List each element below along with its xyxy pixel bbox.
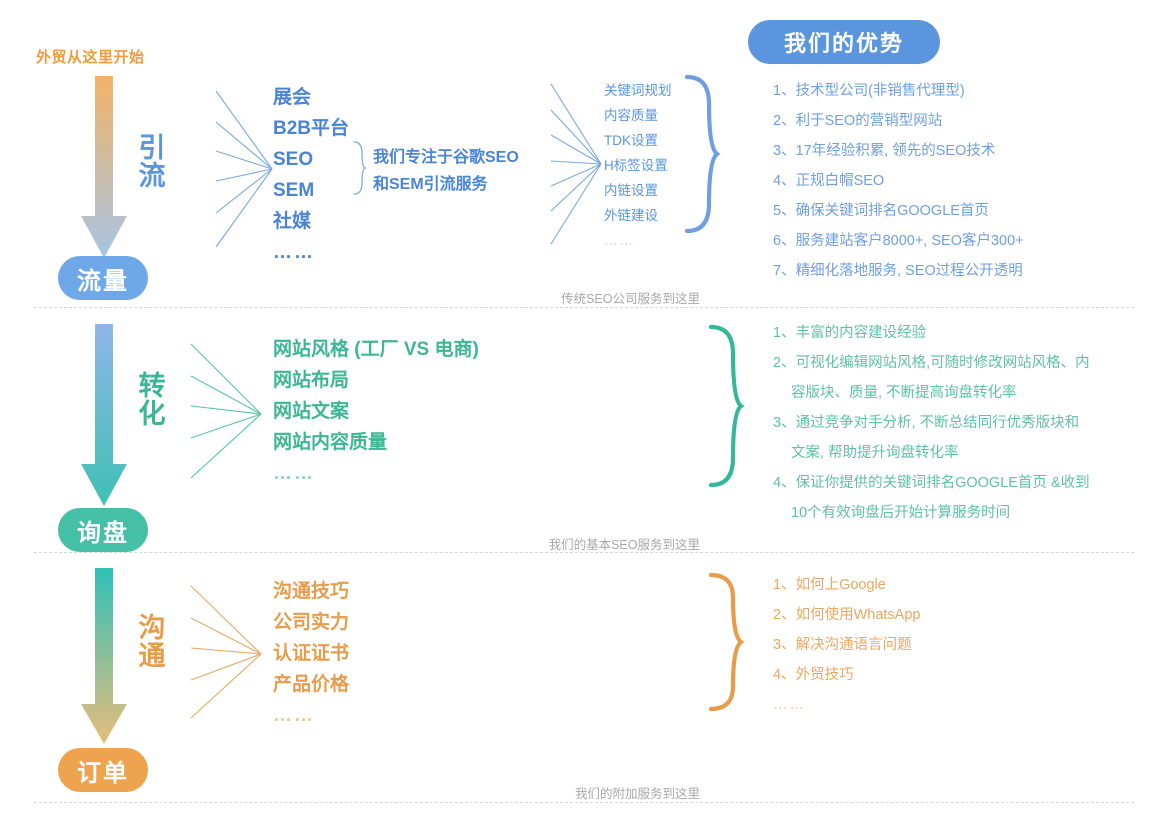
callout-line: 和SEM引流服务: [373, 171, 519, 198]
fan-rays-seo-detail: [549, 78, 601, 250]
list-item: 网站风格 (工厂 VS 电商): [273, 334, 479, 365]
list-item: SEO: [273, 144, 349, 175]
list-item: 2、 利于SEO的营销型网站: [773, 106, 1024, 136]
list-item-continuation: 容版块、质量, 不断提高询盘转化率: [773, 378, 1143, 408]
list-item-index: 6、: [773, 226, 796, 256]
list-item: 网站文案: [273, 396, 479, 427]
list-item-index: 2、: [773, 106, 796, 136]
item-list-traffic: 展会 B2B平台 SEO SEM 社媒 ……: [273, 82, 349, 268]
fan-rays-conversion: [189, 338, 261, 506]
list-item: SEM: [273, 175, 349, 206]
stage-label-char: 引: [136, 134, 168, 162]
list-item: 关键词规划: [604, 78, 672, 103]
callout-traffic: 我们专注于谷歌SEO 和SEM引流服务: [373, 144, 519, 198]
list-item: 3、 解决沟通语言问题: [773, 630, 920, 660]
section-divider: [34, 307, 1134, 308]
list-item-text: 正规白帽SEO: [796, 166, 885, 196]
list-item: 3、通过竞争对手分析, 不断总结同行优秀版块和 文案, 帮助提升询盘转化率: [773, 408, 1143, 468]
list-item-index: 2、: [773, 355, 796, 371]
stage-arrow-communication: [81, 568, 127, 744]
item-list-seo-detail: 关键词规划 内容质量 TDK设置 H标签设置 内链设置 外链建设 ……: [604, 78, 672, 253]
list-item: 1、 丰富的内容建设经验: [773, 318, 1143, 348]
list-item-text: 保证你提供的关键词排名GOOGLE首页 &收到: [796, 475, 1090, 491]
list-item-ellipsis: ……: [273, 458, 479, 489]
advantages-list-conversion: 1、 丰富的内容建设经验 2、可视化编辑网站风格,可随时修改网站风格、内 容版块…: [773, 318, 1143, 528]
list-item-text: 服务建站客户8000+, SEO客户300+: [796, 226, 1024, 256]
list-item: 5、 确保关键词排名GOOGLE首页: [773, 196, 1024, 226]
stage-label-traffic: 引 流: [136, 134, 168, 190]
list-item: 4、 外贸技巧: [773, 660, 920, 690]
list-item: 6、 服务建站客户8000+, SEO客户300+: [773, 226, 1024, 256]
stage-outcome-communication: 订单: [58, 748, 148, 792]
list-item-index: 4、: [773, 475, 796, 491]
list-item-index: 4、: [773, 166, 796, 196]
fan-rays-communication: [189, 580, 261, 742]
list-item-ellipsis: ……: [773, 690, 920, 720]
stage-label-char: 转: [136, 372, 168, 400]
list-item: 2、可视化编辑网站风格,可随时修改网站风格、内 容版块、质量, 不断提高询盘转化…: [773, 348, 1143, 408]
stage-outcome-conversion: 询盘: [58, 508, 148, 552]
advantages-badge: 我们的优势: [748, 20, 940, 64]
infographic-canvas: 外贸从这里开始 引 流: [0, 0, 1169, 827]
list-item: 公司实力: [273, 607, 349, 638]
list-item-index: 1、: [773, 76, 796, 106]
list-item: 4、 正规白帽SEO: [773, 166, 1024, 196]
list-item-text: 可视化编辑网站风格,可随时修改网站风格、内: [796, 355, 1090, 371]
stage-label-char: 化: [136, 400, 168, 428]
advantages-list-communication: 1、 如何上Google 2、 如何使用WhatsApp 3、 解决沟通语言问题…: [773, 570, 920, 720]
list-item: 2、 如何使用WhatsApp: [773, 600, 920, 630]
list-item-text: 如何上Google: [796, 570, 886, 600]
list-item-text: 技术型公司(非销售代理型): [796, 76, 965, 106]
list-item-text: 外贸技巧: [796, 660, 854, 690]
list-item-continuation: 文案, 帮助提升询盘转化率: [773, 438, 1143, 468]
list-item: 3、 17年经验积累, 领先的SEO技术: [773, 136, 1024, 166]
list-item-index: 2、: [773, 600, 796, 630]
list-item-text: 确保关键词排名GOOGLE首页: [796, 196, 989, 226]
brace-traffic-advantages: [683, 74, 719, 234]
list-item-text: 丰富的内容建设经验: [796, 318, 927, 348]
list-item-text: 如何使用WhatsApp: [796, 600, 921, 630]
callout-brace: [352, 140, 366, 196]
divider-label-communication: 我们的附加服务到这里: [440, 783, 700, 802]
list-item-index: 1、: [773, 318, 796, 348]
section-divider: [34, 802, 1134, 803]
divider-label-traffic: 传统SEO公司服务到这里: [440, 288, 700, 307]
list-item-text: 通过竞争对手分析, 不断总结同行优秀版块和: [796, 415, 1080, 431]
kicker-label: 外贸从这里开始: [36, 46, 145, 67]
list-item-ellipsis: ……: [604, 228, 672, 253]
list-item-continuation: 10个有效询盘后开始计算服务时间: [773, 498, 1143, 528]
list-item-index: 1、: [773, 570, 796, 600]
list-item-text: 精细化落地服务, SEO过程公开透明: [796, 256, 1023, 286]
list-item: B2B平台: [273, 113, 349, 144]
stage-arrow-conversion: [81, 324, 127, 506]
list-item-text: 解决沟通语言问题: [796, 630, 912, 660]
list-item-index: 3、: [773, 415, 796, 431]
list-item: 展会: [273, 82, 349, 113]
list-item: 4、保证你提供的关键词排名GOOGLE首页 &收到 10个有效询盘后开始计算服务…: [773, 468, 1143, 528]
list-item-text: 17年经验积累, 领先的SEO技术: [796, 136, 996, 166]
stage-label-char: 流: [136, 162, 168, 190]
stage-outcome-traffic: 流量: [58, 256, 148, 300]
callout-line: 我们专注于谷歌SEO: [373, 144, 519, 171]
list-item-index: 3、: [773, 136, 796, 166]
list-item-index: 4、: [773, 660, 796, 690]
list-item: H标签设置: [604, 153, 672, 178]
list-item: 外链建设: [604, 203, 672, 228]
list-item: 网站内容质量: [273, 427, 479, 458]
list-item: 1、 技术型公司(非销售代理型): [773, 76, 1024, 106]
list-item-index: 5、: [773, 196, 796, 226]
advantages-list-traffic: 1、 技术型公司(非销售代理型) 2、 利于SEO的营销型网站 3、 17年经验…: [773, 76, 1024, 286]
stage-arrow-traffic: [81, 76, 127, 258]
item-list-communication: 沟通技巧 公司实力 认证证书 产品价格 ……: [273, 576, 349, 731]
list-item: 内链设置: [604, 178, 672, 203]
list-item: 1、 如何上Google: [773, 570, 920, 600]
list-item: 沟通技巧: [273, 576, 349, 607]
list-item-text: 利于SEO的营销型网站: [796, 106, 943, 136]
list-item: 认证证书: [273, 638, 349, 669]
list-item-ellipsis: ……: [273, 237, 349, 268]
brace-communication-advantages: [707, 572, 743, 712]
list-item-index: 3、: [773, 630, 796, 660]
stage-label-char: 沟: [136, 614, 168, 642]
list-item: 内容质量: [604, 103, 672, 128]
list-item: TDK设置: [604, 128, 672, 153]
divider-label-conversion: 我们的基本SEO服务到这里: [440, 534, 700, 553]
list-item: 7、 精细化落地服务, SEO过程公开透明: [773, 256, 1024, 286]
list-item: 产品价格: [273, 669, 349, 700]
stage-label-communication: 沟 通: [136, 614, 168, 670]
item-list-conversion: 网站风格 (工厂 VS 电商) 网站布局 网站文案 网站内容质量 ……: [273, 334, 479, 489]
list-item: 网站布局: [273, 365, 479, 396]
brace-conversion-advantages: [707, 324, 743, 488]
stage-label-char: 通: [136, 642, 168, 670]
fan-rays-traffic: [214, 85, 272, 253]
stage-label-conversion: 转 化: [136, 372, 168, 428]
list-item-ellipsis: ……: [273, 700, 349, 731]
list-item-index: 7、: [773, 256, 796, 286]
list-item: 社媒: [273, 206, 349, 237]
